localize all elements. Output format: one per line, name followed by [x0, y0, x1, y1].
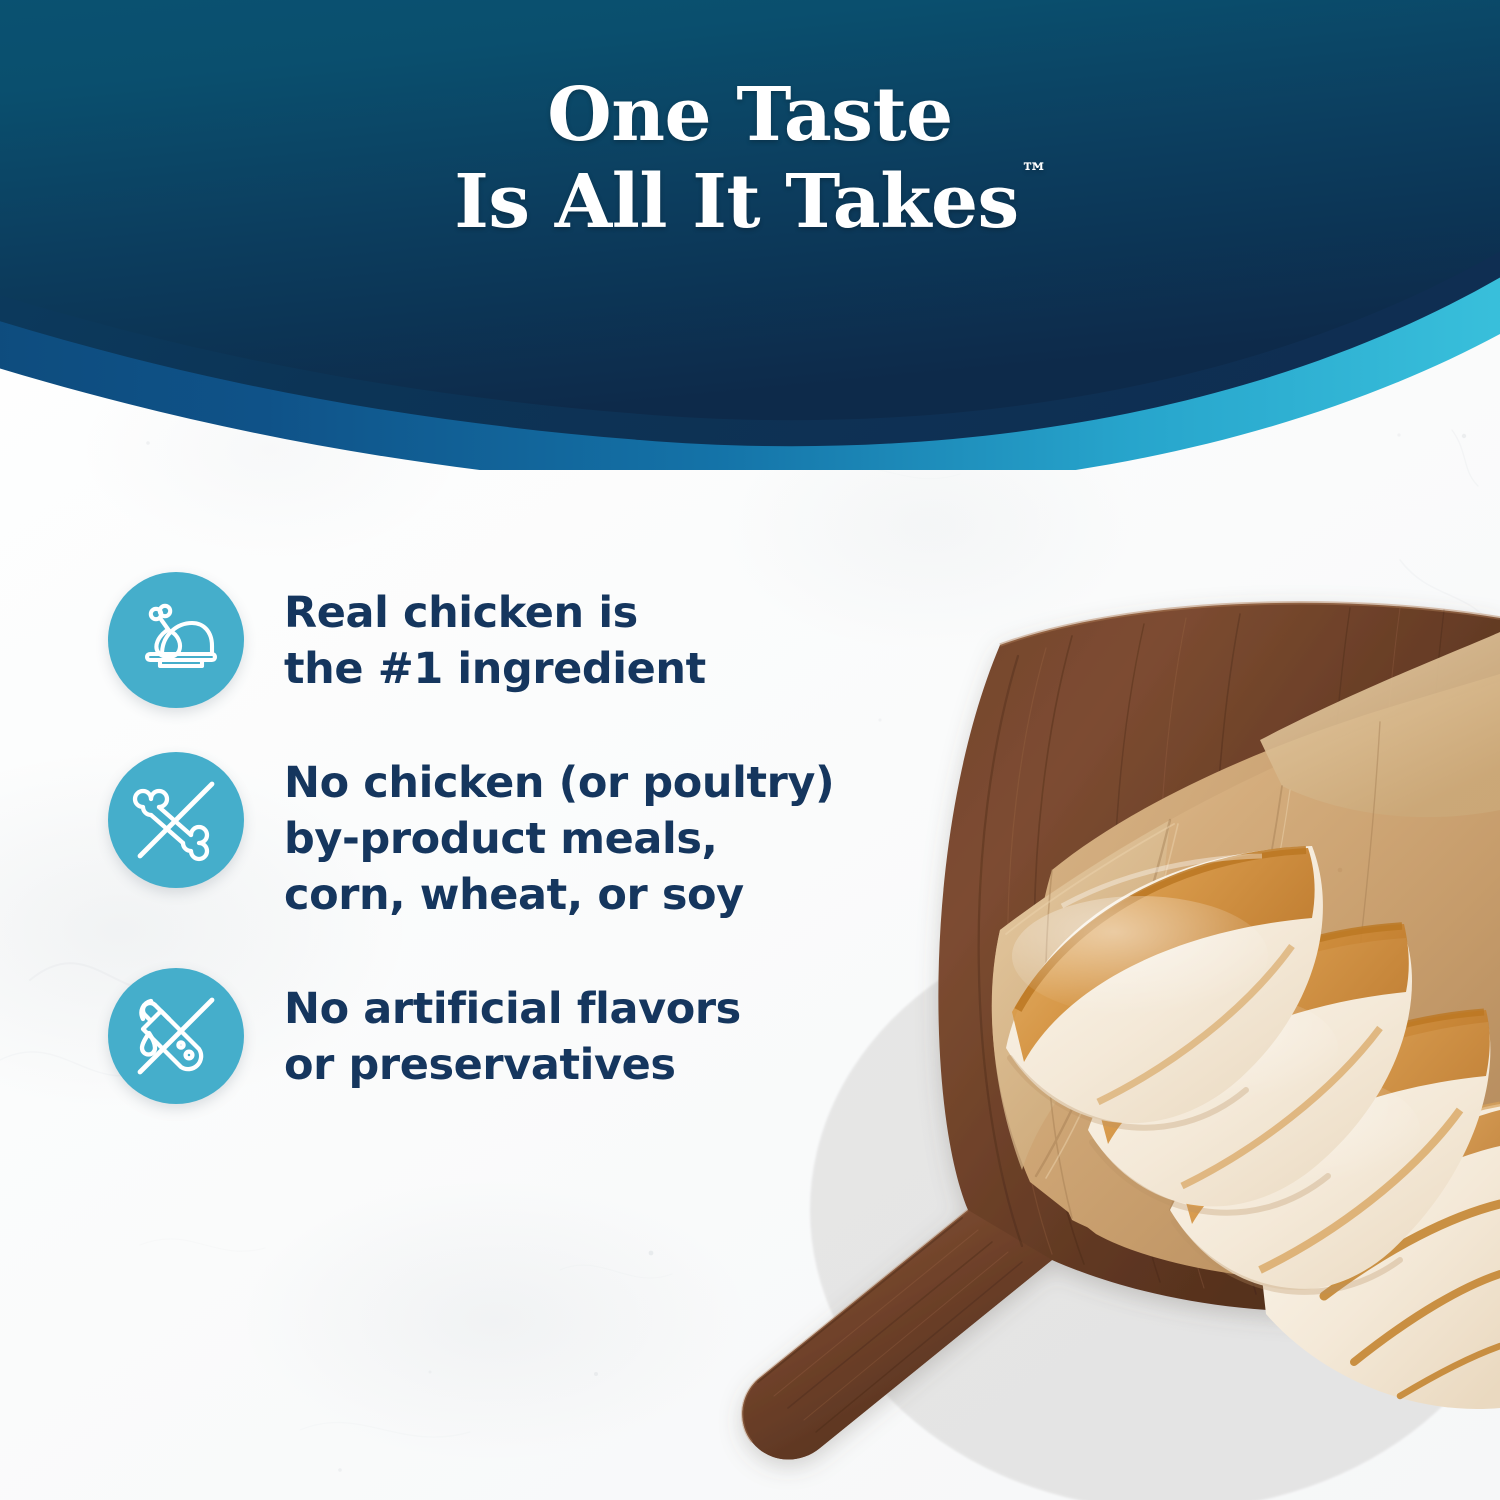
- badge-circle: [108, 572, 244, 708]
- badge-circle: [108, 752, 244, 888]
- list-item-label: No artificial flavors or preservatives: [284, 968, 741, 1094]
- no-bone-icon: [129, 773, 223, 867]
- list-item: No artificial flavors or preservatives: [108, 968, 888, 1104]
- promo-image-root: One Taste Is All It Takes™: [0, 0, 1500, 1500]
- no-test-tube-icon: [129, 989, 223, 1083]
- feature-list: Real chicken is the #1 ingredient: [108, 572, 888, 1104]
- badge-circle: [108, 968, 244, 1104]
- list-item: Real chicken is the #1 ingredient: [108, 572, 888, 708]
- list-item-label: No chicken (or poultry) by-product meals…: [284, 752, 834, 924]
- list-item-label: Real chicken is the #1 ingredient: [284, 572, 706, 698]
- roast-chicken-platter-icon: [132, 596, 220, 684]
- list-item: No chicken (or poultry) by-product meals…: [108, 752, 888, 924]
